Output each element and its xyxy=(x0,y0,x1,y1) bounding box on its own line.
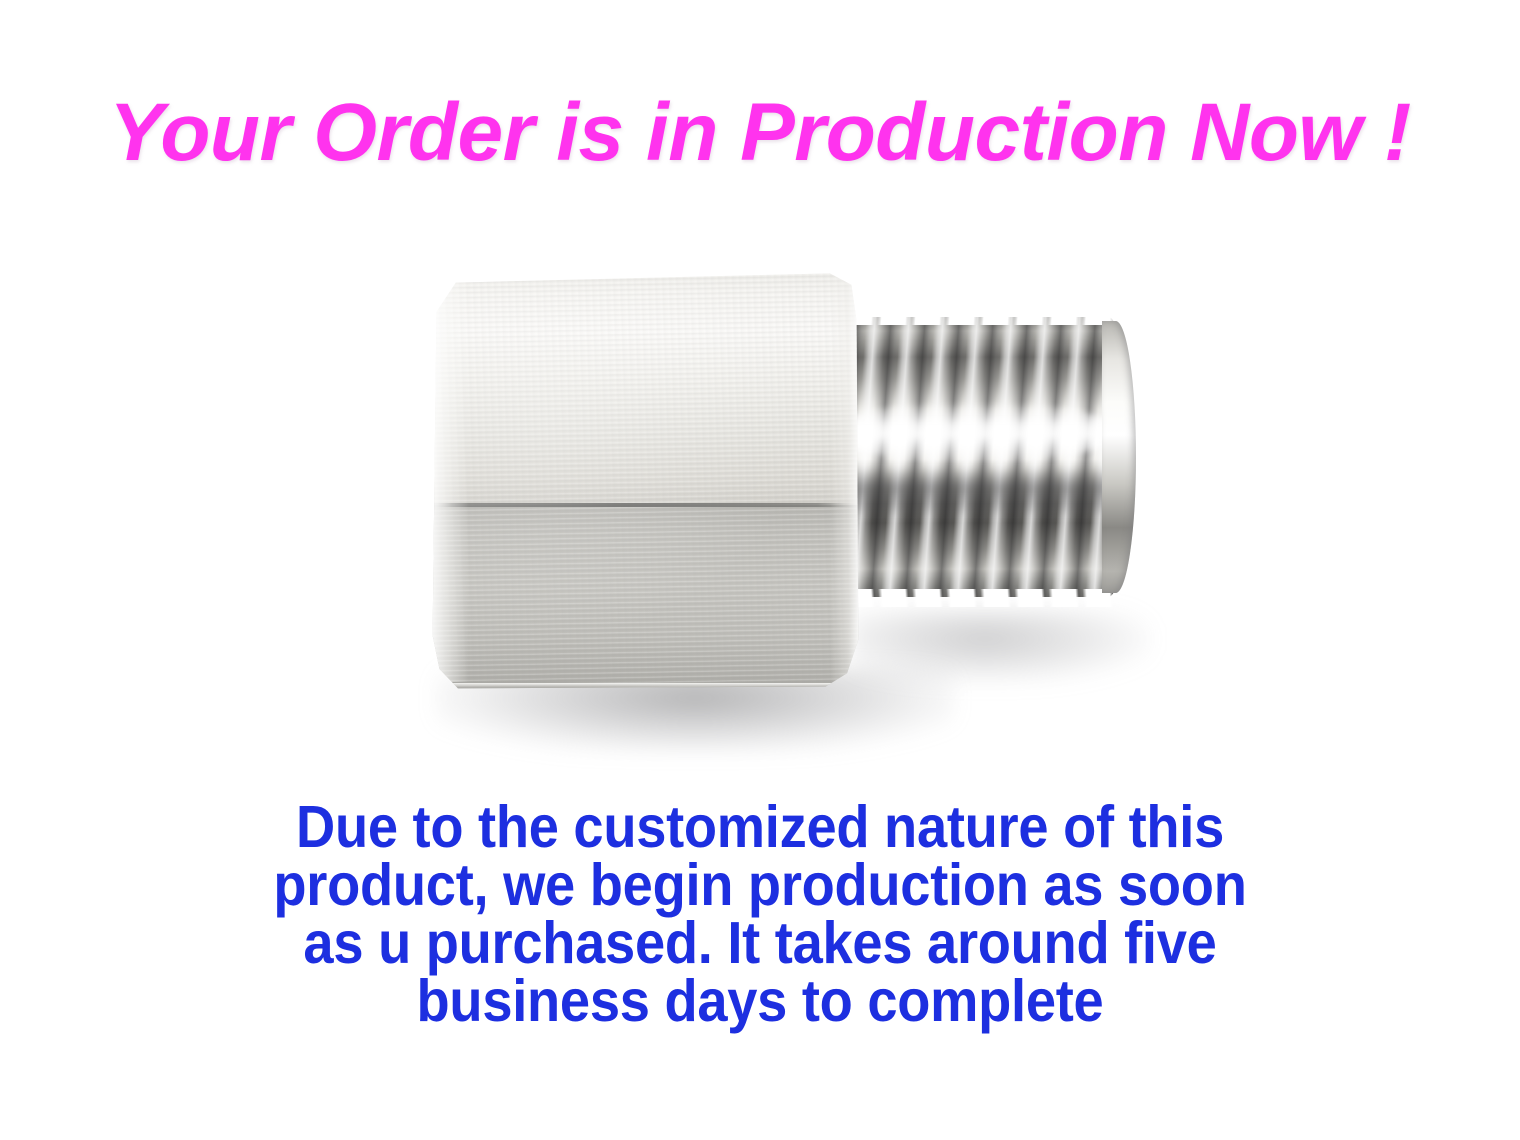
male-threaded-stud xyxy=(832,307,1132,607)
promo-image-canvas: Your Order is in Production Now ! xyxy=(0,0,1520,1140)
product-photo xyxy=(0,215,1520,795)
notice-line-1: Due to the customized nature of this xyxy=(61,798,1459,856)
thread-ridges xyxy=(832,317,1118,597)
hex-facet-edge-line xyxy=(430,503,860,507)
hex-top-facet xyxy=(430,270,860,505)
hex-body-silhouette xyxy=(430,270,860,690)
hex-bottom-facet xyxy=(430,505,860,690)
ground-shadow-secondary xyxy=(850,610,1150,682)
hex-body xyxy=(430,270,860,690)
notice-line-3: as u purchased. It takes around five xyxy=(61,914,1459,972)
thread-end-cap xyxy=(1102,321,1136,593)
production-notice-text: Due to the customized nature of this pro… xyxy=(0,798,1520,1030)
notice-line-4: business days to complete xyxy=(61,972,1459,1030)
page-title: Your Order is in Production Now ! xyxy=(0,92,1520,174)
notice-line-2: product, we begin production as soon xyxy=(61,856,1459,914)
product-photo-inner xyxy=(380,215,1200,795)
